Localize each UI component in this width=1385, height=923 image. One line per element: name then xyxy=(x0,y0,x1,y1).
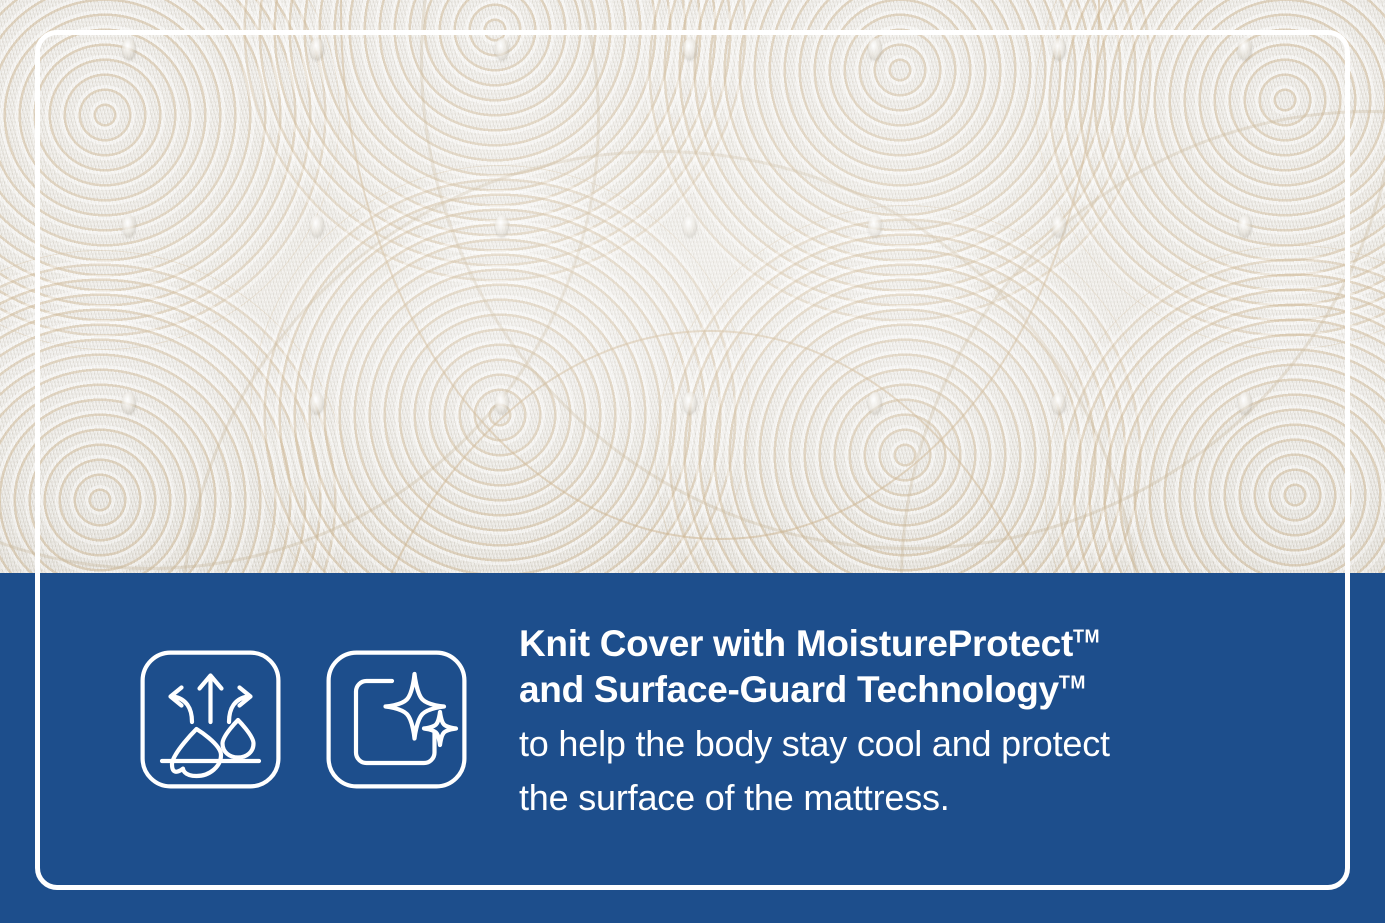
fabric-lighting xyxy=(0,0,1385,573)
body-line-2: the surface of the mattress. xyxy=(519,774,1110,821)
feature-icon-group xyxy=(140,650,467,789)
trademark-symbol: TM xyxy=(1073,627,1100,647)
headline-line-2: and Surface-Guard TechnologyTM xyxy=(519,667,1110,713)
feature-text-block: Knit Cover with MoistureProtectTM and Su… xyxy=(519,621,1110,821)
trademark-symbol: TM xyxy=(1059,673,1086,693)
moisture-wicking-icon xyxy=(140,650,281,789)
headline-line-1: Knit Cover with MoistureProtectTM xyxy=(519,621,1110,667)
feature-card: Knit Cover with MoistureProtectTM and Su… xyxy=(0,0,1385,923)
surface-guard-icon xyxy=(326,650,467,789)
panel-content: Knit Cover with MoistureProtectTM and Su… xyxy=(0,573,1385,923)
body-line-1: to help the body stay cool and protect xyxy=(519,720,1110,767)
mattress-fabric-photo xyxy=(0,0,1385,573)
